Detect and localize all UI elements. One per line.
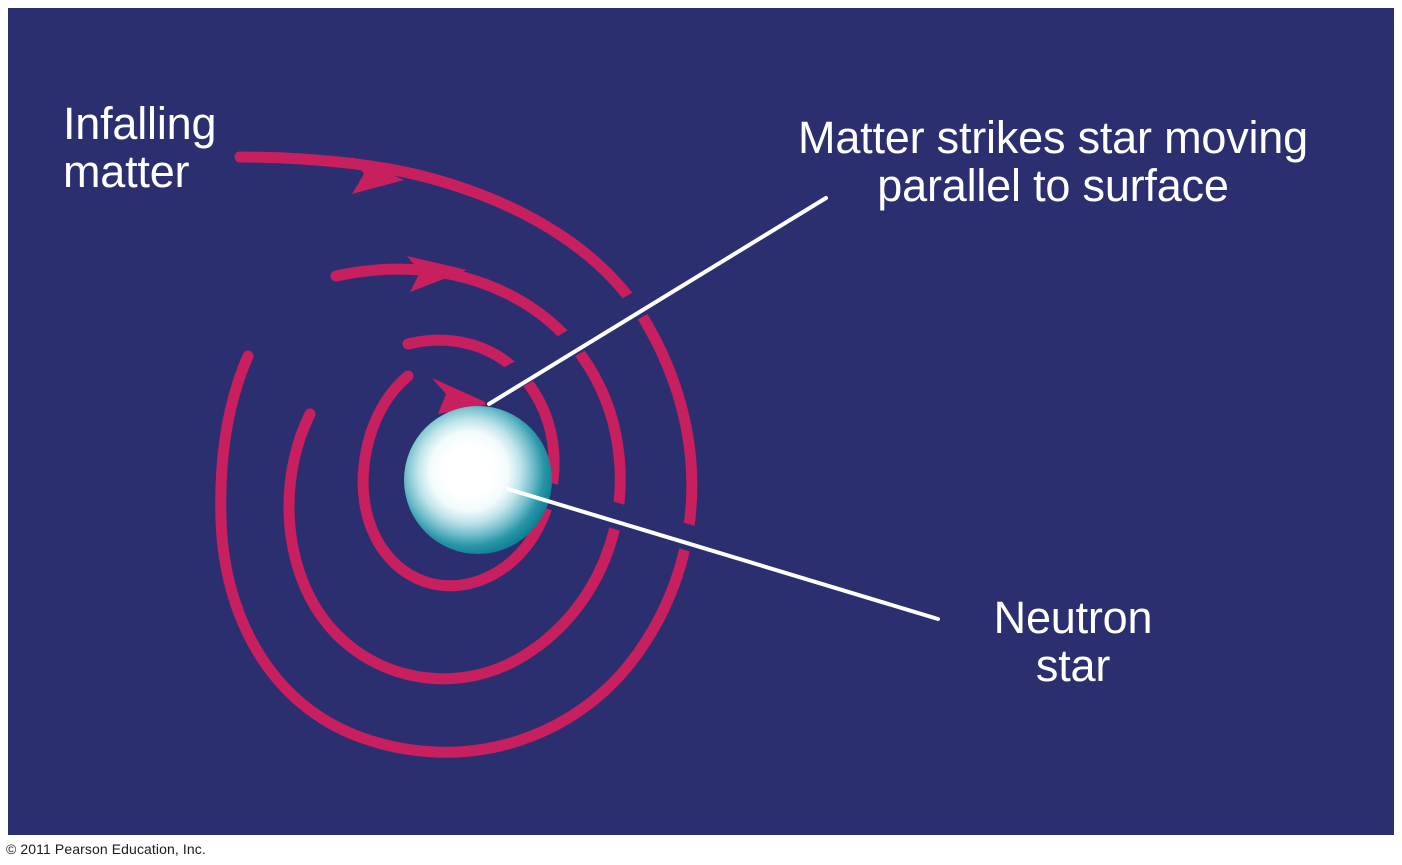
label-neutron-star: Neutron star	[923, 594, 1223, 690]
figure-root: Infalling matter Matter strikes star mov…	[0, 0, 1402, 865]
label-infalling-matter: Infalling matter	[63, 100, 216, 196]
diagram-panel: Infalling matter Matter strikes star mov…	[8, 8, 1394, 835]
leader-line-neutron-star	[508, 489, 938, 619]
label-matter-strikes-star: Matter strikes star moving parallel to s…	[753, 114, 1353, 210]
neutron-star-glow	[404, 406, 552, 554]
leader-line-matter-strikes	[489, 198, 826, 404]
copyright-notice: © 2011 Pearson Education, Inc.	[6, 841, 206, 857]
